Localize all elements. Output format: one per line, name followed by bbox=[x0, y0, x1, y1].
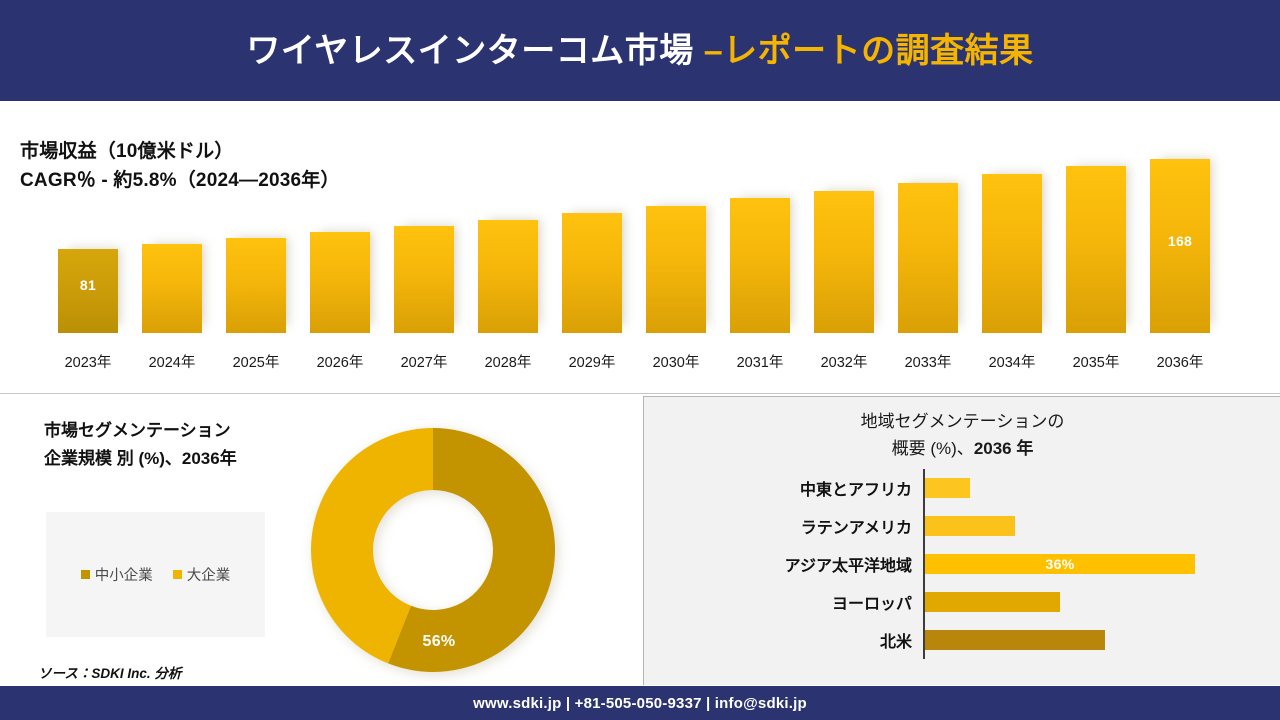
segmentation-title-line2: 企業規模 別 (%)、2036年 bbox=[44, 445, 314, 473]
revenue-x-axis-label: 2034年 bbox=[970, 351, 1054, 372]
regional-bar bbox=[925, 516, 1015, 536]
regional-title: 地域セグメンテーションの 概要 (%)、2036 年 bbox=[644, 408, 1280, 462]
revenue-bar-column: 1682036年 bbox=[1138, 101, 1222, 394]
legend-item-sme: 中小企業 bbox=[81, 564, 153, 585]
revenue-bar bbox=[562, 213, 622, 333]
regional-title-line1: 地域セグメンテーションの bbox=[644, 408, 1280, 435]
legend-swatch-icon-large bbox=[173, 570, 182, 579]
segmentation-title: 市場セグメンテーション 企業規模 別 (%)、2036年 bbox=[44, 417, 314, 473]
revenue-bar bbox=[730, 198, 790, 333]
revenue-bar-column: 2035年 bbox=[1054, 101, 1138, 394]
legend-label-sme: 中小企業 bbox=[95, 564, 153, 585]
revenue-x-axis-label: 2027年 bbox=[382, 351, 466, 372]
revenue-bar bbox=[142, 244, 202, 333]
source-note: ソース：SDKI Inc. 分析 bbox=[38, 662, 181, 682]
regional-category-label: 中東とアフリカ bbox=[644, 469, 912, 507]
revenue-bar-value-label: 168 bbox=[1168, 233, 1192, 249]
revenue-bar-column: 2027年 bbox=[382, 101, 466, 394]
regional-bar bbox=[925, 478, 970, 498]
regional-bar bbox=[925, 630, 1105, 650]
revenue-bar-value-label: 81 bbox=[80, 277, 96, 293]
revenue-x-axis-label: 2032年 bbox=[802, 351, 886, 372]
revenue-x-axis-label: 2023年 bbox=[46, 351, 130, 372]
regional-bar-row: ヨーロッパ bbox=[644, 583, 1280, 621]
revenue-bar bbox=[982, 174, 1042, 333]
revenue-bar bbox=[646, 206, 706, 333]
header-band: ワイヤレスインターコム市場 –レポートの調査結果 bbox=[0, 0, 1280, 101]
regional-chart-panel: 地域セグメンテーションの 概要 (%)、2036 年 中東とアフリカラテンアメリ… bbox=[643, 396, 1280, 685]
revenue-x-axis-label: 2031年 bbox=[718, 351, 802, 372]
revenue-x-axis-label: 2024年 bbox=[130, 351, 214, 372]
revenue-x-axis-label: 2025年 bbox=[214, 351, 298, 372]
revenue-bar-column: 2028年 bbox=[466, 101, 550, 394]
revenue-x-axis-label: 2028年 bbox=[466, 351, 550, 372]
revenue-bar bbox=[310, 232, 370, 333]
regional-bar bbox=[925, 592, 1060, 612]
regional-title-line2: 概要 (%)、2036 年 bbox=[644, 435, 1280, 462]
enterprise-size-donut-chart: 56% bbox=[308, 425, 558, 675]
revenue-chart-panel: 市場収益（10億米ドル） CAGR％ - 約5.8%（2024―2036年） 8… bbox=[0, 101, 1280, 394]
legend-swatch-icon-sme bbox=[81, 570, 90, 579]
regional-category-label: ヨーロッパ bbox=[644, 583, 912, 621]
revenue-x-axis-label: 2036年 bbox=[1138, 351, 1222, 372]
regional-title-line2-bold: 2036 年 bbox=[974, 439, 1034, 458]
legend-item-large: 大企業 bbox=[173, 564, 231, 585]
infographic-page: ワイヤレスインターコム市場 –レポートの調査結果 市場収益（10億米ドル） CA… bbox=[0, 0, 1280, 720]
revenue-bar-column: 2033年 bbox=[886, 101, 970, 394]
legend-label-large: 大企業 bbox=[187, 564, 231, 585]
revenue-x-axis-label: 2029年 bbox=[550, 351, 634, 372]
revenue-bar bbox=[226, 238, 286, 333]
regional-category-label: ラテンアメリカ bbox=[644, 507, 912, 545]
regional-bar-value-label: 36% bbox=[925, 554, 1195, 574]
revenue-bar-column: 2030年 bbox=[634, 101, 718, 394]
revenue-x-axis-label: 2035年 bbox=[1054, 351, 1138, 372]
regional-category-label: アジア太平洋地域 bbox=[644, 545, 912, 583]
revenue-bar-column: 2024年 bbox=[130, 101, 214, 394]
footer-contact: www.sdki.jp | +81-505-050-9337 | info@sd… bbox=[473, 695, 807, 712]
page-title: ワイヤレスインターコム市場 –レポートの調査結果 bbox=[246, 34, 1033, 68]
regional-title-line2-plain: 概要 (%)、 bbox=[892, 439, 974, 458]
regional-bar-row: 北米 bbox=[644, 621, 1280, 659]
regional-plot-area: 中東とアフリカラテンアメリカアジア太平洋地域36%ヨーロッパ北米 bbox=[644, 469, 1280, 669]
revenue-bar bbox=[1066, 166, 1126, 333]
donut-value-label: 56% bbox=[404, 633, 474, 651]
revenue-bar-column: 2032年 bbox=[802, 101, 886, 394]
revenue-bar-column: 2034年 bbox=[970, 101, 1054, 394]
regional-category-label: 北米 bbox=[644, 621, 912, 659]
revenue-x-axis-label: 2026年 bbox=[298, 351, 382, 372]
revenue-bar-column: 812023年 bbox=[46, 101, 130, 394]
regional-bar-row: 中東とアフリカ bbox=[644, 469, 1280, 507]
revenue-bar bbox=[814, 191, 874, 333]
footer-band: www.sdki.jp | +81-505-050-9337 | info@sd… bbox=[0, 686, 1280, 720]
regional-bar-row: アジア太平洋地域36% bbox=[644, 545, 1280, 583]
revenue-bar-column: 2026年 bbox=[298, 101, 382, 394]
page-title-accent: –レポートの調査結果 bbox=[704, 32, 1034, 70]
revenue-bar-column: 2025年 bbox=[214, 101, 298, 394]
revenue-bar bbox=[478, 220, 538, 333]
revenue-plot-area: 812023年2024年2025年2026年2027年2028年2029年203… bbox=[0, 101, 1280, 394]
segmentation-title-line1: 市場セグメンテーション bbox=[44, 417, 314, 445]
segmentation-legend: 中小企業 大企業 bbox=[46, 512, 265, 637]
page-title-main: ワイヤレスインターコム市場 bbox=[246, 32, 703, 70]
revenue-bar bbox=[898, 183, 958, 333]
revenue-bar-column: 2031年 bbox=[718, 101, 802, 394]
regional-bar-row: ラテンアメリカ bbox=[644, 507, 1280, 545]
revenue-bar bbox=[394, 226, 454, 333]
revenue-x-axis-label: 2030年 bbox=[634, 351, 718, 372]
revenue-x-axis-label: 2033年 bbox=[886, 351, 970, 372]
revenue-bar-column: 2029年 bbox=[550, 101, 634, 394]
